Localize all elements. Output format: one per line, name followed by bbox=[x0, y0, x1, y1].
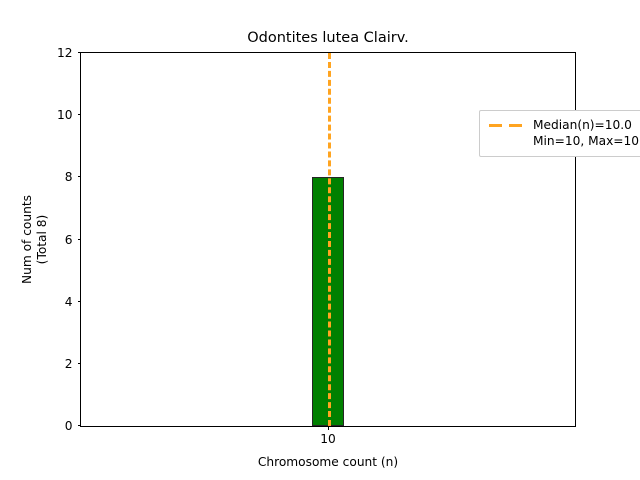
xtick-10 bbox=[328, 426, 329, 430]
ytick-label-10: 10 bbox=[57, 109, 73, 121]
ytick-6: 6 bbox=[78, 239, 82, 240]
legend-text: Median(n)=10.0 Min=10, Max=10 bbox=[533, 117, 639, 149]
legend-entry-minmax: Min=10, Max=10 bbox=[533, 133, 639, 149]
ytick-label-4: 4 bbox=[65, 296, 73, 308]
ytick-0: 0 bbox=[78, 425, 82, 426]
ytick-4: 4 bbox=[78, 301, 82, 302]
ytick-label-6: 6 bbox=[65, 234, 73, 246]
ytick-label-0: 0 bbox=[65, 420, 73, 432]
chart-figure: Odontites lutea Clairv. 0 2 4 6 8 10 12 bbox=[0, 0, 640, 480]
ytick-12: 12 bbox=[78, 52, 82, 53]
legend-entry-median: Median(n)=10.0 bbox=[533, 117, 639, 133]
median-line bbox=[328, 53, 331, 426]
plot-inner bbox=[81, 53, 575, 426]
page-title: Odontites lutea Clairv. bbox=[80, 29, 576, 47]
ytick-label-2: 2 bbox=[65, 358, 73, 370]
legend[interactable]: Median(n)=10.0 Min=10, Max=10 bbox=[479, 110, 640, 157]
ytick-10: 10 bbox=[78, 114, 82, 115]
dashed-line-icon bbox=[489, 119, 525, 133]
y-axis-label-line-2: (Total 8) bbox=[35, 215, 50, 265]
plot-area: 0 2 4 6 8 10 12 10 Median( bbox=[80, 52, 576, 427]
x-axis-label: Chromosome count (n) bbox=[80, 455, 576, 469]
y-axis-label: Num of counts (Total 8) bbox=[18, 52, 52, 427]
ytick-label-8: 8 bbox=[65, 171, 73, 183]
ytick-8: 8 bbox=[78, 176, 82, 177]
ytick-2: 2 bbox=[78, 363, 82, 364]
y-axis-label-line-1: Num of counts bbox=[20, 195, 35, 284]
ytick-label-12: 12 bbox=[57, 47, 73, 59]
xtick-label-10: 10 bbox=[320, 432, 336, 446]
